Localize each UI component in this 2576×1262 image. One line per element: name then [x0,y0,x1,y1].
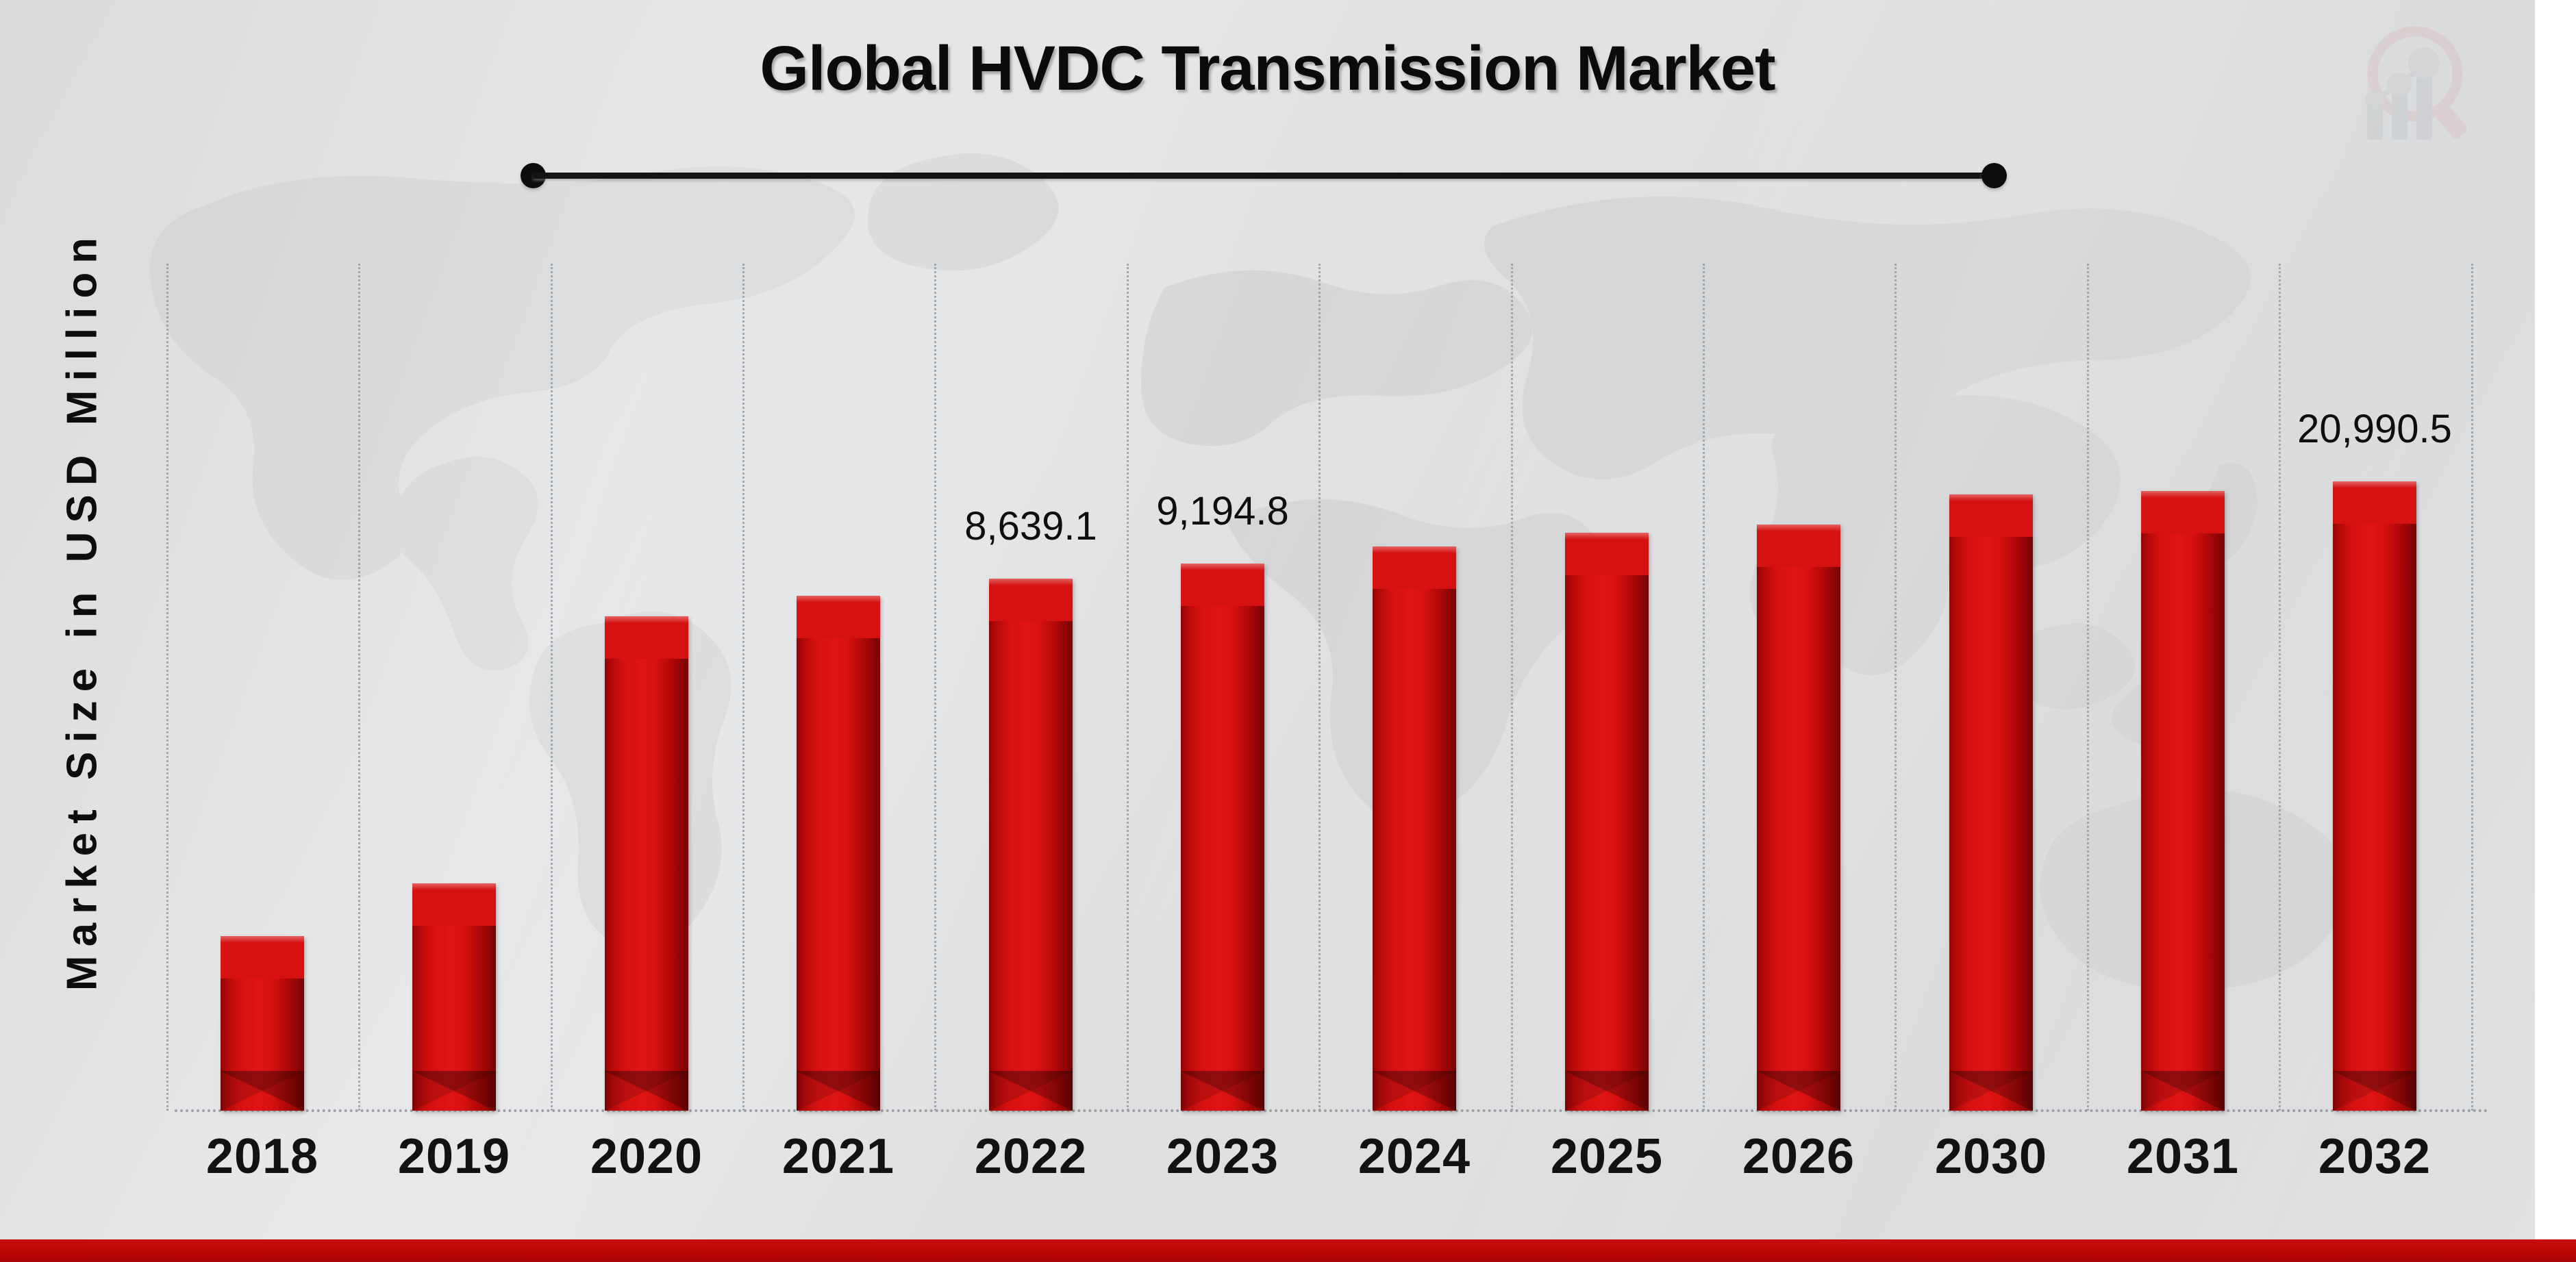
bar-bottom-bevel [989,1071,1073,1111]
bar-bottom-bevel [1949,1071,2033,1111]
x-axis-tick-2019: 2019 [365,1128,543,1185]
bar-2026[interactable] [1757,525,1840,1111]
gridline [1511,264,1513,1111]
bar-bottom-bevel [605,1071,688,1111]
bar-bottom-bevel [2141,1071,2225,1111]
bar-top-highlight [221,936,304,943]
bar-bottom-bevel [1757,1071,1840,1111]
bar-2018[interactable] [221,936,304,1111]
x-axis-tick-2021: 2021 [749,1128,927,1185]
dumbbell-rail [533,173,1994,179]
gridline [2471,264,2473,1111]
right-margin [2535,0,2576,1239]
x-axis-tick-2018: 2018 [173,1128,351,1185]
value-label-2023: 9,194.8 [1079,488,1366,534]
bar-top-highlight [1181,564,1264,570]
x-axis-tick-2022: 2022 [942,1128,1120,1185]
bar-top-highlight [605,616,688,623]
bar-2030[interactable] [1949,494,2033,1111]
gridline [551,264,553,1111]
y-axis-label: Market Size in USD Million [58,124,107,1096]
bar-2023[interactable] [1181,564,1264,1111]
dumbbell-right-knob [1981,163,2007,188]
footer-accent-band [0,1239,2576,1262]
x-axis-tick-2023: 2023 [1134,1128,1312,1185]
bar-top-highlight [989,579,1073,585]
bar-2032[interactable] [2333,481,2416,1111]
gridline [166,264,168,1111]
bar-bottom-bevel [221,1071,304,1111]
gridline [934,264,936,1111]
bar-top-highlight [1949,494,2033,501]
x-axis-tick-2031: 2031 [2094,1128,2272,1185]
bar-bottom-bevel [2333,1071,2416,1111]
gridline [1703,264,1705,1111]
bar-top-highlight [797,596,880,603]
bar-top-highlight [1757,525,1840,531]
x-axis-tick-2032: 2032 [2286,1128,2464,1185]
gridline [358,264,360,1111]
gridline [1895,264,1897,1111]
page-title: Global HVDC Transmission Market [0,33,2535,105]
gridline [2087,264,2089,1111]
bar-2022[interactable] [989,579,1073,1111]
bar-bottom-bevel [797,1071,880,1111]
gridline [1127,264,1129,1111]
bar-2024[interactable] [1373,546,1456,1111]
bar-2021[interactable] [797,596,880,1111]
bar-top-highlight [412,883,496,890]
bar-bottom-bevel [1373,1071,1456,1111]
bar-bottom-bevel [412,1071,496,1111]
bar-bottom-bevel [1565,1071,1649,1111]
x-axis-tick-2024: 2024 [1325,1128,1503,1185]
gridline [742,264,745,1111]
bar-top-highlight [1373,546,1456,553]
x-axis-tick-2030: 2030 [1902,1128,2080,1185]
bar-top-highlight [2141,491,2225,498]
chart-root: Global HVDC Transmission Market Market S… [0,0,2576,1262]
chart-canvas: Global HVDC Transmission Market Market S… [0,0,2535,1239]
bar-2031[interactable] [2141,491,2225,1111]
gridline [1318,264,1321,1111]
dumbbell-divider [521,170,2007,181]
bar-2025[interactable] [1565,533,1649,1111]
x-axis-tick-2020: 2020 [558,1128,736,1185]
bar-top-highlight [2333,481,2416,488]
x-axis-labels: 2018201920202021202220232024202520262030… [180,1128,2485,1204]
x-axis-tick-2025: 2025 [1518,1128,1696,1185]
plot-area: 8,639.19,194.820,990.5 [180,264,2485,1111]
bar-bottom-bevel [1181,1071,1264,1111]
value-label-2032: 20,990.5 [2231,406,2518,452]
bar-2020[interactable] [605,616,688,1111]
x-axis-tick-2026: 2026 [1710,1128,1888,1185]
bar-2019[interactable] [412,883,496,1111]
gridline [2279,264,2281,1111]
bar-top-highlight [1565,533,1649,540]
